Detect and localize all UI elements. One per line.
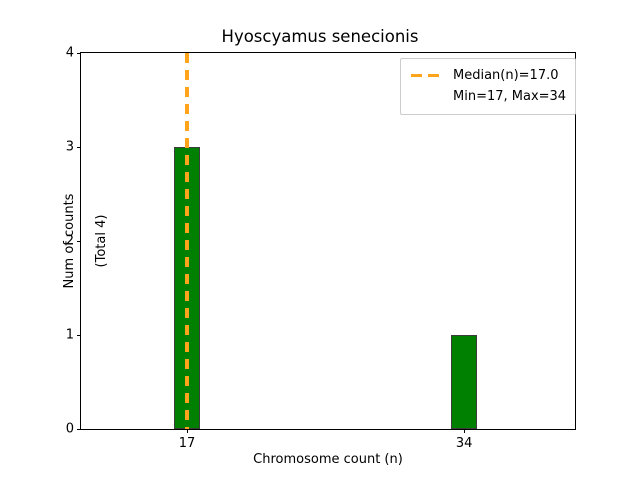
legend-entry-minmax: Min=17, Max=34	[410, 86, 566, 107]
blank-marker-icon	[410, 86, 444, 107]
chart-legend: Median(n)=17.0 Min=17, Max=34	[400, 58, 576, 115]
chart-figure: Hyoscyamus senecionis 012341734 Chromoso…	[0, 0, 640, 480]
y-axis-label-line-2: (Total 4)	[94, 52, 110, 430]
y-axis-label-line-1: Num of counts	[62, 52, 78, 430]
x-tick-label: 34	[456, 436, 473, 451]
x-tick-mark	[187, 429, 188, 433]
x-tick-label: 17	[179, 436, 196, 451]
legend-label-median: Median(n)=17.0	[453, 68, 559, 83]
bar-34	[451, 335, 477, 429]
chart-title: Hyoscyamus senecionis	[0, 27, 640, 46]
x-tick-mark	[464, 429, 465, 433]
x-axis-label: Chromosome count (n)	[80, 452, 576, 468]
legend-entry-median: Median(n)=17.0	[410, 65, 566, 86]
y-axis-label: Num of counts (Total 4)	[46, 52, 78, 430]
median-line	[185, 53, 188, 429]
dashed-line-icon	[410, 65, 444, 86]
legend-label-minmax: Min=17, Max=34	[453, 89, 566, 104]
